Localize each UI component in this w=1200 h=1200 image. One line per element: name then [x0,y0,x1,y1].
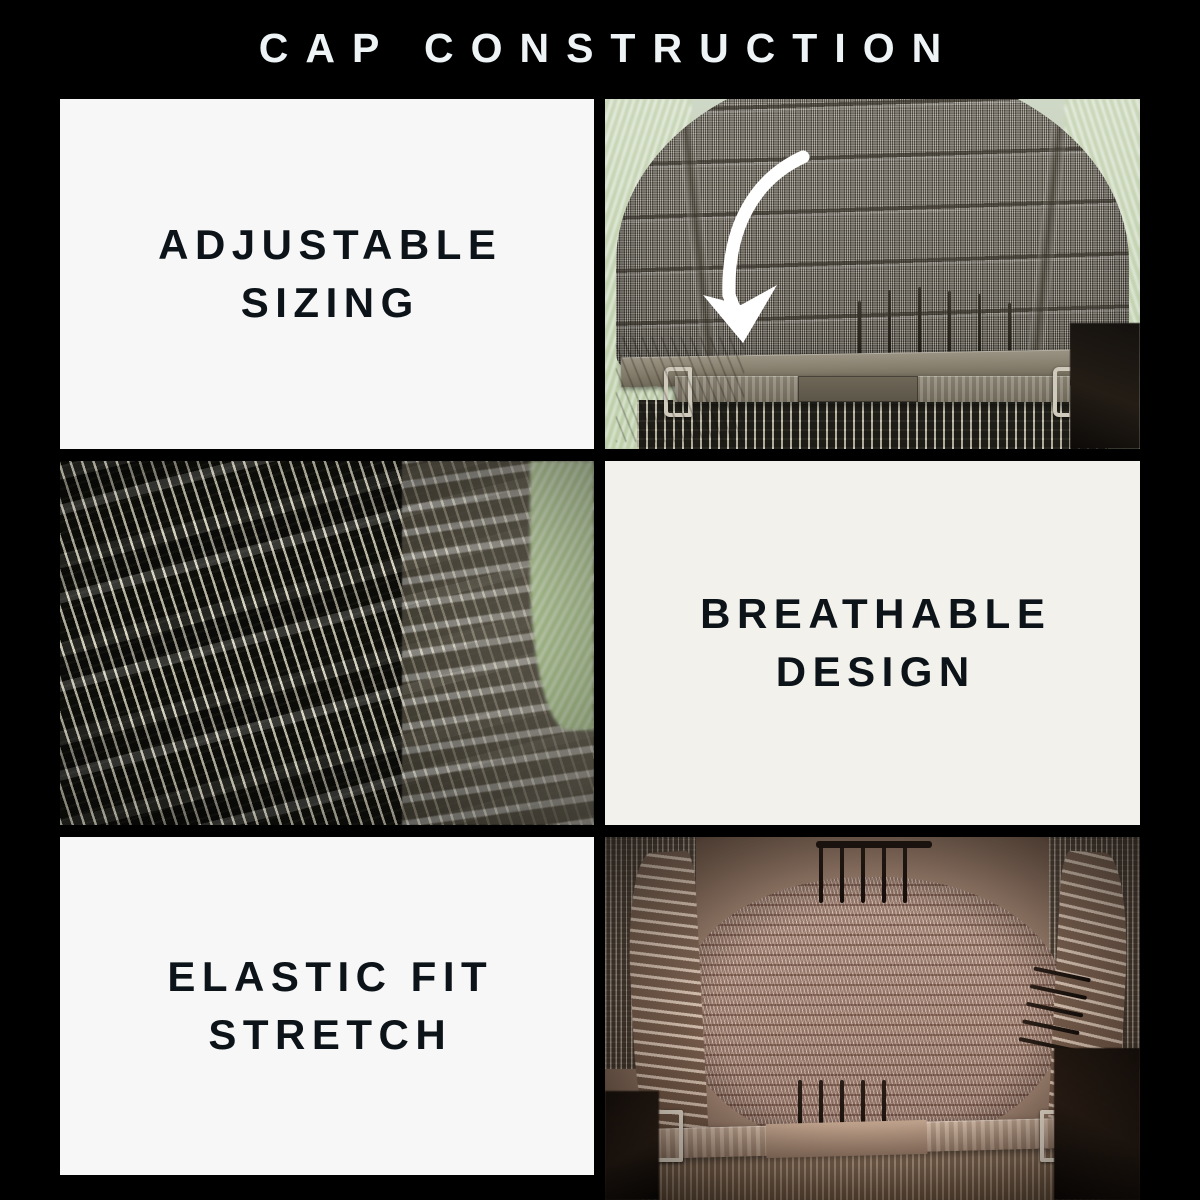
feature-label-line-1: ADJUSTABLE [152,216,503,274]
photo-canvas-cap-interior [605,837,1140,1200]
feature-panel-elastic-fit-stretch: ELASTIC FIT STRETCH [60,837,594,1175]
page-title: CAP CONSTRUCTION [0,22,1200,74]
feature-label-line-1: ELASTIC FIT [161,948,493,1006]
photo-cap-interior [605,837,1140,1200]
photo-vignette [60,461,594,825]
feature-label-elastic-fit-stretch: ELASTIC FIT STRETCH [143,948,511,1064]
wig-hair-strands-right [1070,323,1140,449]
photo-canvas-mesh-macro [60,461,594,825]
feature-label-line-2: STRETCH [161,1006,493,1064]
infographic-canvas: CAP CONSTRUCTION ADJUSTABLE SIZING [0,0,1200,1200]
feature-label-line-2: SIZING [152,274,503,332]
wig-hair-wisps-left [616,337,744,442]
photo-vignette [605,837,1140,1200]
photo-breathable-mesh-macro [60,461,594,825]
feature-label-adjustable-sizing: ADJUSTABLE SIZING [134,216,521,332]
photo-canvas-cap-back [605,99,1140,449]
adjustable-strap-tab [798,376,918,402]
feature-panel-adjustable-sizing: ADJUSTABLE SIZING [60,99,594,449]
feature-panel-breathable-design: BREATHABLE DESIGN [605,461,1140,825]
feature-label-line-2: DESIGN [694,643,1052,701]
feature-label-line-1: BREATHABLE [694,585,1052,643]
photo-cap-back-adjustable-strap [605,99,1140,449]
feature-label-breathable-design: BREATHABLE DESIGN [676,585,1070,701]
